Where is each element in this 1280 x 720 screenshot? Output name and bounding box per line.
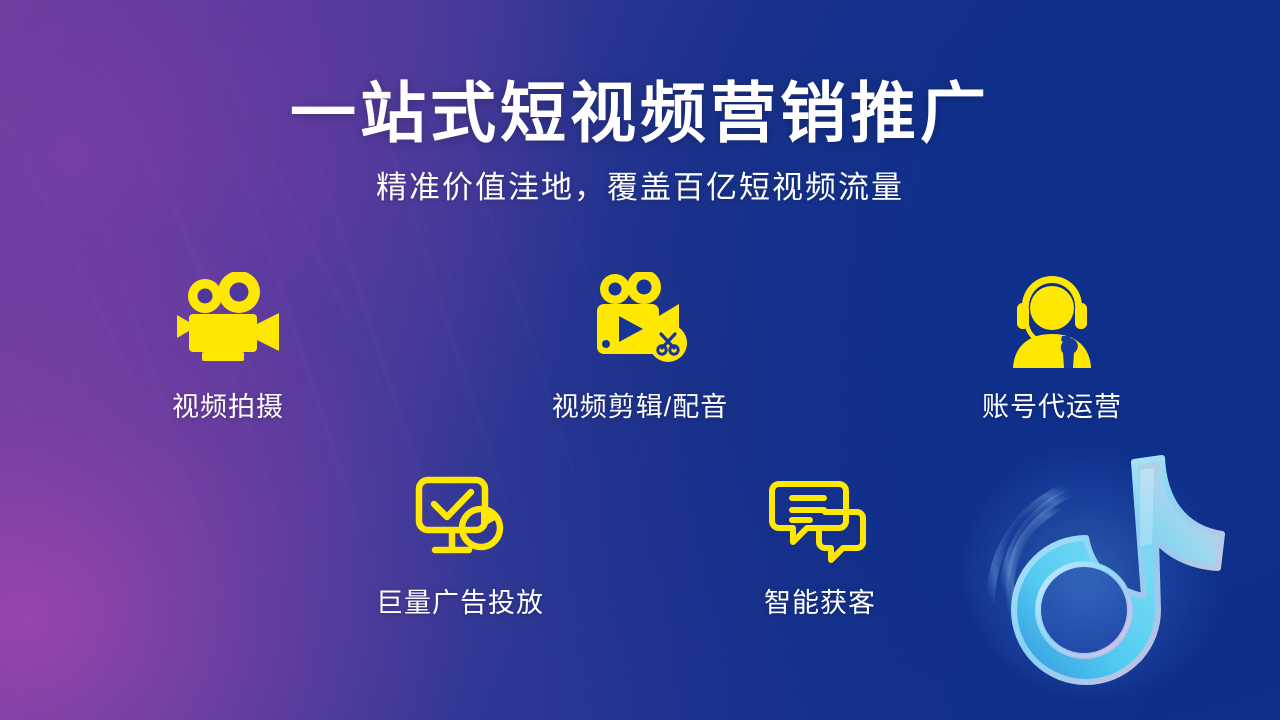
- feature-label: 视频拍摄: [172, 385, 284, 424]
- feature-label: 智能获客: [764, 581, 876, 620]
- movie-camera-icon: [169, 272, 287, 368]
- feature-item-smart-acquisition[interactable]: 智能获客: [715, 468, 925, 620]
- promo-poster: 一站式短视频营销推广 精准价值洼地，覆盖百亿短视频流量: [0, 0, 1280, 720]
- feature-row-two: 巨量广告投放 智能获客: [0, 468, 1280, 620]
- feature-label: 账号代运营: [982, 385, 1122, 424]
- feature-item-video-shooting[interactable]: 视频拍摄: [123, 272, 333, 424]
- heading-block: 一站式短视频营销推广 精准价值洼地，覆盖百亿短视频流量: [0, 78, 1280, 206]
- feature-label: 视频剪辑/配音: [552, 385, 729, 424]
- video-edit-scissors-icon: [581, 272, 699, 368]
- monitor-check-chart-icon: [405, 468, 515, 564]
- feature-item-account-operation[interactable]: 账号代运营: [947, 272, 1157, 424]
- page-subtitle: 精准价值洼地，覆盖百亿短视频流量: [0, 169, 1280, 206]
- feature-row-one: 视频拍摄: [0, 272, 1280, 424]
- feature-item-ad-placement[interactable]: 巨量广告投放: [355, 468, 565, 620]
- page-title: 一站式短视频营销推广: [0, 78, 1280, 149]
- chat-bubbles-icon: [765, 468, 875, 564]
- headset-agent-icon: [997, 272, 1107, 368]
- feature-item-video-editing[interactable]: 视频剪辑/配音: [535, 272, 745, 424]
- feature-label: 巨量广告投放: [376, 581, 544, 620]
